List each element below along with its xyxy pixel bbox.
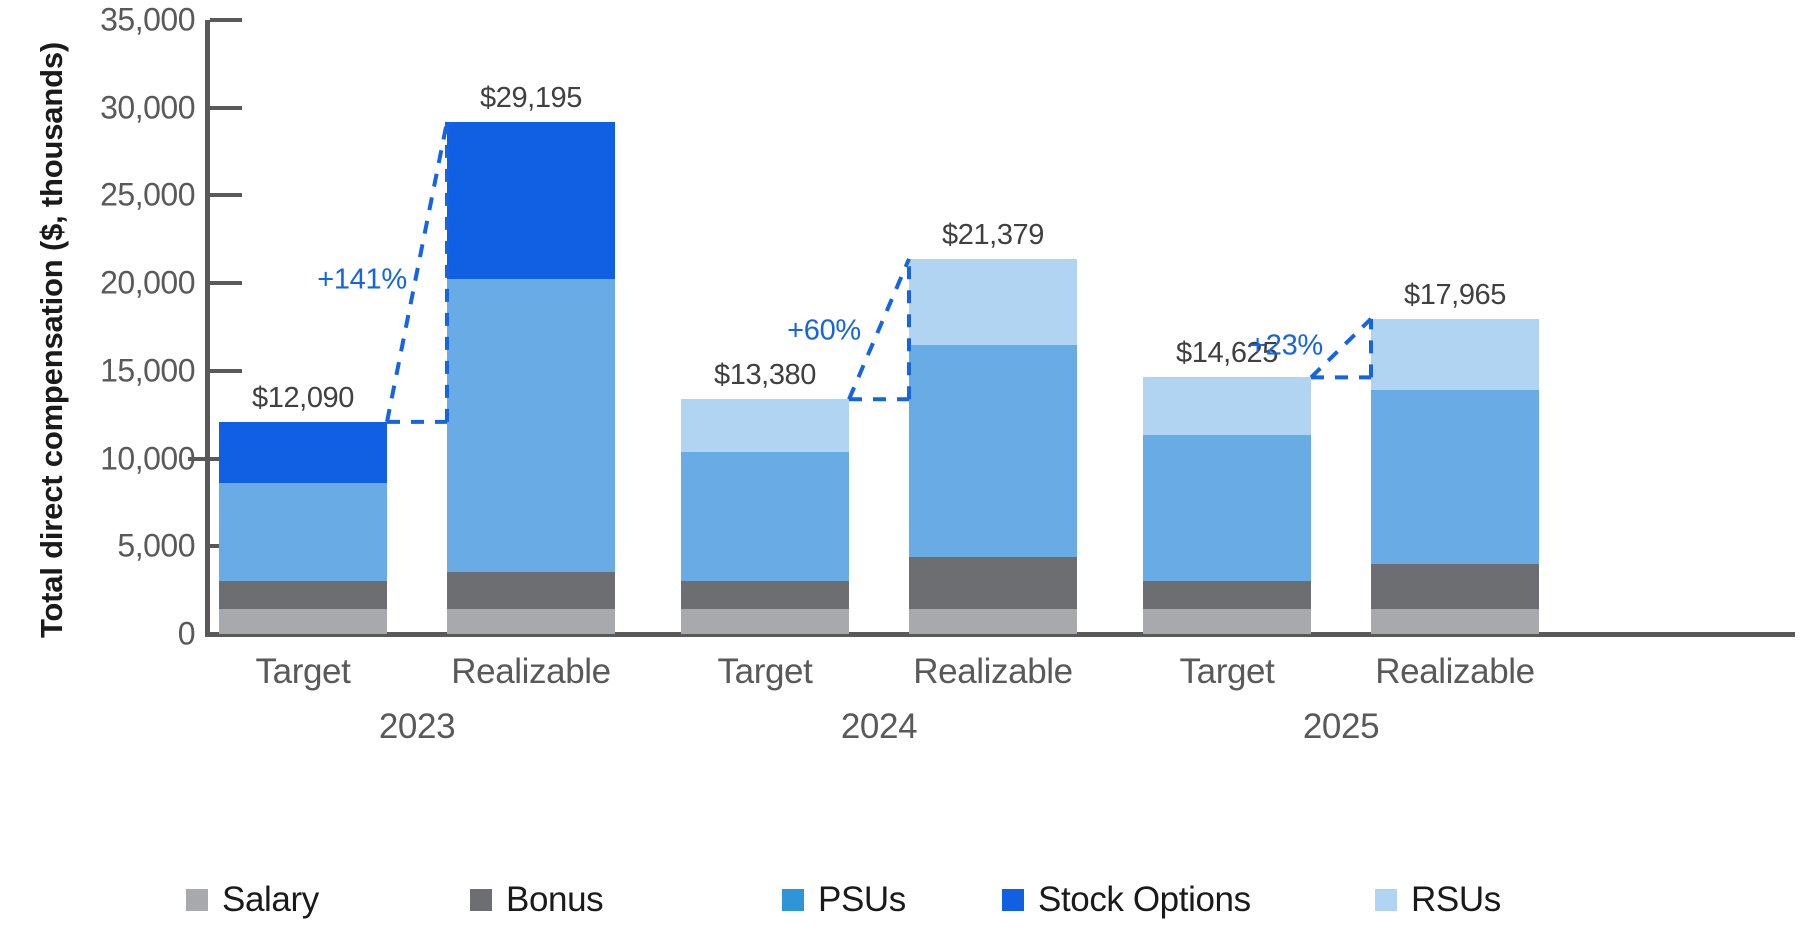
bar-segment-bonus <box>219 581 387 609</box>
bar-segment-bonus <box>1143 581 1311 609</box>
bar-segment-bonus <box>909 557 1077 608</box>
bar-segment-bonus <box>447 572 615 609</box>
y-axis-tick-labels: 05,00010,00015,00020,00025,00030,00035,0… <box>20 0 195 949</box>
y-tick-label: 0 <box>35 616 195 653</box>
bar-total-label: $29,195 <box>480 82 582 115</box>
y-tick-label: 35,000 <box>35 2 195 39</box>
bar-total-label: $21,379 <box>942 219 1044 252</box>
y-tick-label: 10,000 <box>35 440 195 477</box>
bar-target-2025[interactable] <box>1143 377 1311 634</box>
bar-target-2023[interactable] <box>219 422 387 634</box>
y-tick-label: 15,000 <box>35 352 195 389</box>
legend-swatch-icon <box>782 889 804 911</box>
plot-area: $12,090$29,195$13,380$21,379$14,625$17,9… <box>210 20 1795 634</box>
legend-label: PSUs <box>818 880 906 920</box>
legend-label: Bonus <box>506 880 603 920</box>
bar-total-label: $12,090 <box>252 382 354 415</box>
legend-label: Salary <box>222 880 319 920</box>
bar-segment-rsus <box>1371 319 1539 390</box>
growth-percent-label: +23% <box>1249 330 1323 363</box>
bar-segment-rsus <box>1143 377 1311 435</box>
legend-swatch-icon <box>1002 889 1024 911</box>
legend-swatch-icon <box>470 889 492 911</box>
bar-total-label: $17,965 <box>1404 279 1506 312</box>
bar-segment-rsus <box>909 259 1077 345</box>
y-tick-label: 30,000 <box>35 89 195 126</box>
x-category-label: Realizable <box>1375 652 1534 692</box>
y-tick-mark <box>188 457 210 461</box>
x-category-label: Target <box>718 652 813 692</box>
chart-container: Total direct compensation ($, thousands)… <box>0 0 1800 949</box>
bar-segment-salary <box>447 609 615 634</box>
x-group-label: 2023 <box>379 707 455 747</box>
legend-item-salary[interactable]: Salary <box>186 880 319 920</box>
x-category-label: Realizable <box>451 652 610 692</box>
legend-item-psus[interactable]: PSUs <box>782 880 906 920</box>
bar-segment-salary <box>219 609 387 634</box>
legend-label: RSUs <box>1411 880 1501 920</box>
x-category-label: Target <box>1180 652 1275 692</box>
bar-realizable-2024[interactable] <box>909 259 1077 634</box>
growth-percent-label: +60% <box>787 314 861 347</box>
legend-item-stock-options[interactable]: Stock Options <box>1002 880 1251 920</box>
legend-item-rsus[interactable]: RSUs <box>1375 880 1501 920</box>
bar-segment-salary <box>1371 609 1539 634</box>
bar-segment-salary <box>1143 609 1311 634</box>
y-tick-label: 20,000 <box>35 265 195 302</box>
chart-legend: SalaryBonusPSUsStock OptionsRSUs <box>0 880 1800 935</box>
y-tick-label: 5,000 <box>35 528 195 565</box>
bar-segment-bonus <box>681 581 849 609</box>
bar-segment-psus <box>909 345 1077 557</box>
bar-segment-salary <box>909 609 1077 634</box>
bar-segment-psus <box>447 279 615 572</box>
legend-label: Stock Options <box>1038 880 1251 920</box>
bar-realizable-2023[interactable] <box>447 122 615 634</box>
x-group-label: 2024 <box>841 707 917 747</box>
bar-target-2024[interactable] <box>681 399 849 634</box>
growth-percent-label: +141% <box>317 263 407 296</box>
bar-segment-stock-options <box>219 422 387 483</box>
y-tick-label: 25,000 <box>35 177 195 214</box>
bar-segment-bonus <box>1371 564 1539 609</box>
x-category-label: Realizable <box>913 652 1072 692</box>
legend-swatch-icon <box>1375 889 1397 911</box>
bar-segment-salary <box>681 609 849 634</box>
bar-segment-rsus <box>681 399 849 451</box>
legend-swatch-icon <box>186 889 208 911</box>
x-category-label: Target <box>256 652 351 692</box>
bar-segment-psus <box>681 452 849 581</box>
bar-realizable-2025[interactable] <box>1371 319 1539 634</box>
bar-segment-psus <box>1143 435 1311 580</box>
bar-segment-psus <box>1371 390 1539 564</box>
x-group-label: 2025 <box>1303 707 1379 747</box>
bar-total-label: $13,380 <box>714 359 816 392</box>
bar-segment-psus <box>219 483 387 581</box>
bar-segment-stock-options <box>447 122 615 279</box>
legend-item-bonus[interactable]: Bonus <box>470 880 603 920</box>
